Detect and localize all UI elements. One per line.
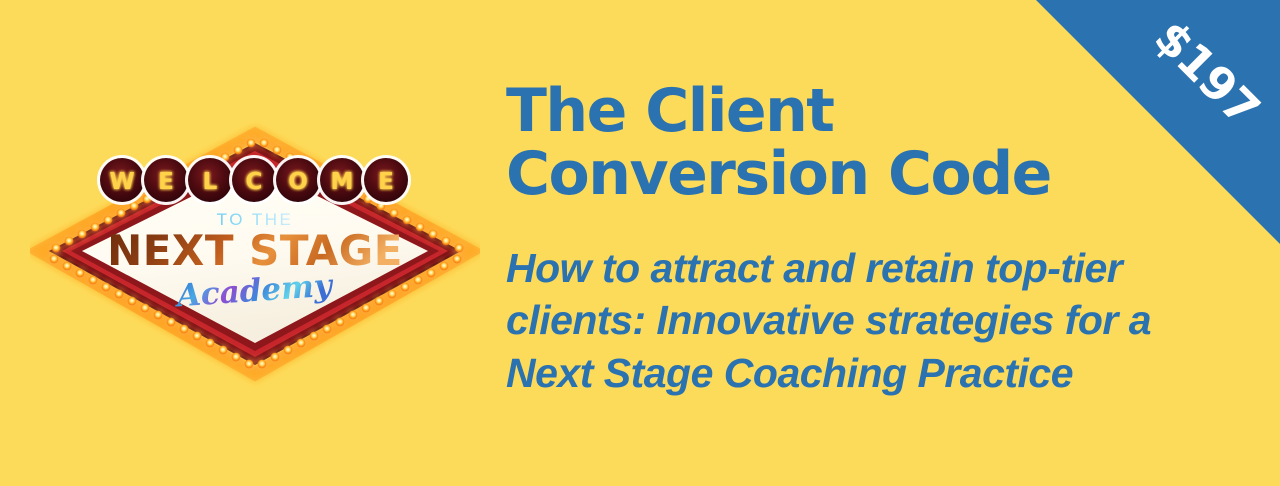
svg-text:W: W [109,169,134,195]
logo-next-stage-text: NEXT STAGE [107,226,403,275]
welcome-circle-e2: E [361,155,411,205]
next-stage-academy-logo: W E L C [30,118,480,388]
welcome-circle-c: C [229,155,279,205]
svg-text:L: L [203,169,218,195]
welcome-circle-e1: E [141,155,191,205]
welcome-circle-w: W [97,155,147,205]
welcome-circle-o: O [273,155,323,205]
svg-text:C: C [246,169,263,195]
page-subtitle: How to attract and retain top-tier clien… [506,242,1232,399]
welcome-circle-m: M [317,155,367,205]
svg-text:M: M [331,169,354,195]
page-title: The Client Conversion Code [506,80,1066,206]
promo-banner: $197 [0,0,1280,486]
svg-text:E: E [158,169,174,195]
svg-text:E: E [378,169,394,195]
welcome-circle-l: L [185,155,235,205]
svg-text:O: O [288,169,308,195]
headline-text-block: The Client Conversion Code How to attrac… [506,80,1236,399]
